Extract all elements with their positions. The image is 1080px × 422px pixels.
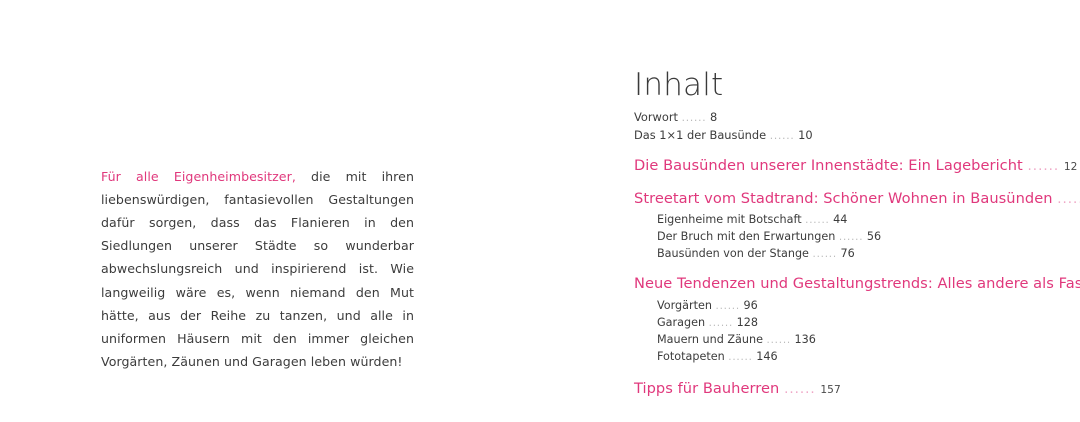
toc-entry-label: Das 1×1 der Bausünde [634,128,766,142]
left-page: Für alle Eigenheimbesitzer, die mit ihre… [0,0,540,422]
toc-entry-chapter[interactable]: Tipps für Bauherren ...... 157 [634,382,1064,397]
toc-entry-sub[interactable]: Der Bruch mit den Erwartungen ...... 56 [634,231,1064,242]
toc-entry-chapter[interactable]: Neue Tendenzen und Gestaltungstrends: Al… [634,277,1064,292]
toc-leader-dots: ...... [767,334,791,346]
table-of-contents: Vorwort ...... 8Das 1×1 der Bausünde ...… [634,112,1064,397]
toc-entry-plain[interactable]: Vorwort ...... 8 [634,112,1064,123]
dedication-body-text: die mit ihren liebenswürdigen, fantasiev… [101,169,414,370]
toc-page-number: 10 [798,128,813,142]
toc-entry-sub[interactable]: Fototapeten ...... 146 [634,351,1064,362]
toc-page-number: 44 [833,213,847,226]
toc-entry-sub[interactable]: Eigenheime mit Botschaft ...... 44 [634,214,1064,225]
toc-entry-label: Bausünden von der Stange [657,247,809,260]
toc-entry-chapter[interactable]: Streetart vom Stadtrand: Schöner Wohnen … [634,192,1064,207]
dedication-lead-phrase: Für alle Eigenheimbesitzer, [101,169,296,184]
toc-leader-dots: ...... [805,214,829,226]
toc-page-number: 128 [737,316,758,329]
toc-entry-sub[interactable]: Garagen ...... 128 [634,317,1064,328]
dedication-paragraph: Für alle Eigenheimbesitzer, die mit ihre… [101,165,414,374]
toc-entry-sub[interactable]: Mauern und Zäune ...... 136 [634,334,1064,345]
toc-page-number: 146 [756,350,777,363]
toc-entry-label: Die Bausünden unserer Innenstädte: Ein L… [634,157,1023,174]
toc-entry-sub[interactable]: Bausünden von der Stange ...... 76 [634,248,1064,259]
toc-leader-dots: ...... [839,231,863,243]
toc-leader-dots: ...... [770,130,795,142]
toc-leader-dots: ...... [813,248,837,260]
toc-entry-label: Tipps für Bauherren [634,380,779,397]
toc-leader-dots: ...... [784,382,816,397]
toc-entry-label: Vorgärten [657,299,712,312]
toc-leader-dots: ...... [709,317,733,329]
toc-leader-dots: ...... [682,112,707,124]
toc-page-number: 56 [867,230,881,243]
toc-leader-dots: ...... [1057,192,1080,207]
toc-entry-plain[interactable]: Das 1×1 der Bausünde ...... 10 [634,130,1064,141]
toc-page-number: 96 [744,299,758,312]
toc-leader-dots: ...... [728,351,752,363]
toc-page-number: 157 [820,384,840,396]
toc-entry-chapter[interactable]: Die Bausünden unserer Innenstädte: Ein L… [634,159,1064,174]
toc-entry-label: Streetart vom Stadtrand: Schöner Wohnen … [634,190,1053,207]
toc-page-number: 136 [795,333,816,346]
toc-page-number: 8 [710,110,717,124]
toc-entry-label: Garagen [657,316,705,329]
right-page: Inhalt Vorwort ...... 8Das 1×1 der Bausü… [540,0,1080,422]
toc-entry-label: Vorwort [634,110,678,124]
toc-leader-dots: ...... [1028,159,1060,174]
toc-entry-label: Der Bruch mit den Erwartungen [657,230,835,243]
toc-entry-label: Neue Tendenzen und Gestaltungstrends: Al… [634,275,1080,292]
toc-page-number: 76 [841,247,855,260]
toc-leader-dots: ...... [716,300,740,312]
toc-entry-label: Fototapeten [657,350,725,363]
toc-entry-sub[interactable]: Vorgärten ...... 96 [634,300,1064,311]
toc-entry-label: Mauern und Zäune [657,333,763,346]
toc-entry-label: Eigenheime mit Botschaft [657,213,802,226]
toc-page-number: 12 [1064,161,1078,173]
page-title: Inhalt [634,70,723,101]
